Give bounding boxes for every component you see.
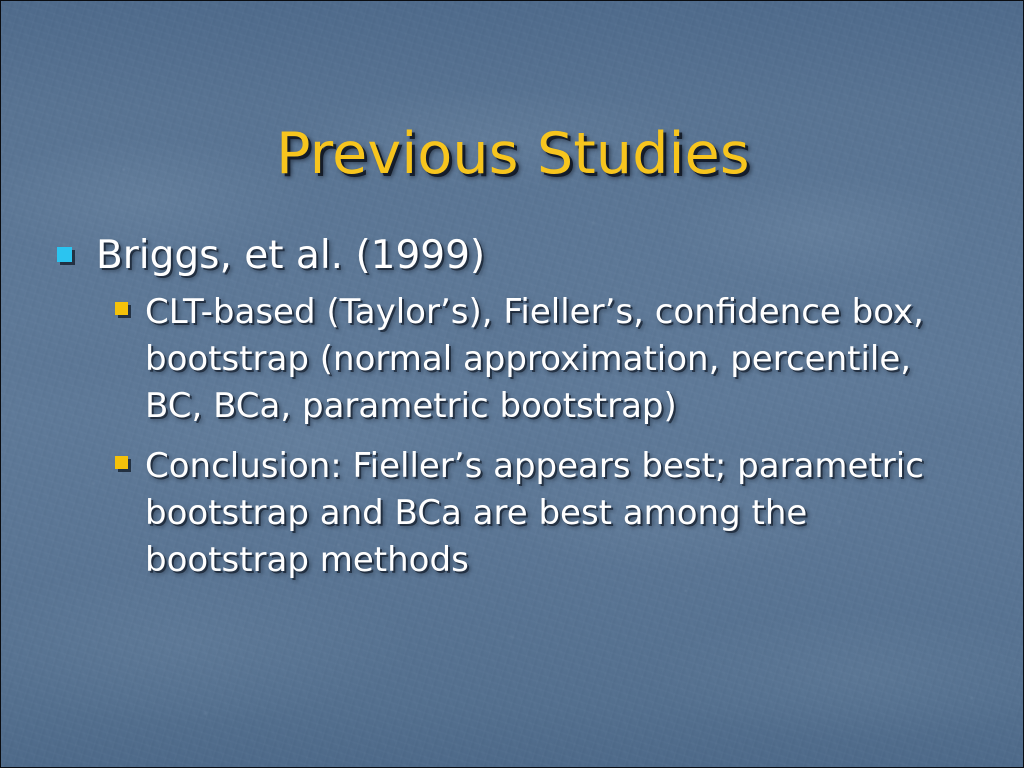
bullet-text-level2-conclusion: Conclusion: Fieller’s appears best; para… [145, 443, 965, 584]
bullet-item-level1: Briggs, et al. (1999) [57, 233, 977, 279]
slide-title: Previous Studies [1, 123, 1024, 185]
presentation-slide: Previous Studies Briggs, et al. (1999) C… [0, 0, 1024, 768]
square-bullet-icon [115, 302, 128, 315]
bullet-item-level2: Conclusion: Fieller’s appears best; para… [115, 443, 977, 584]
slide-body-content: Briggs, et al. (1999) CLT-based (Taylor’… [57, 233, 977, 584]
bullet-item-level2: CLT-based (Taylor’s), Fieller’s, confide… [115, 289, 977, 430]
bullet-spacer [115, 430, 977, 443]
bullet-text-level2-methods: CLT-based (Taylor’s), Fieller’s, confide… [145, 289, 965, 430]
square-bullet-icon [115, 456, 128, 469]
sub-bullet-group: CLT-based (Taylor’s), Fieller’s, confide… [115, 289, 977, 584]
square-bullet-icon [57, 247, 72, 262]
bullet-text-level1: Briggs, et al. (1999) [96, 233, 485, 279]
